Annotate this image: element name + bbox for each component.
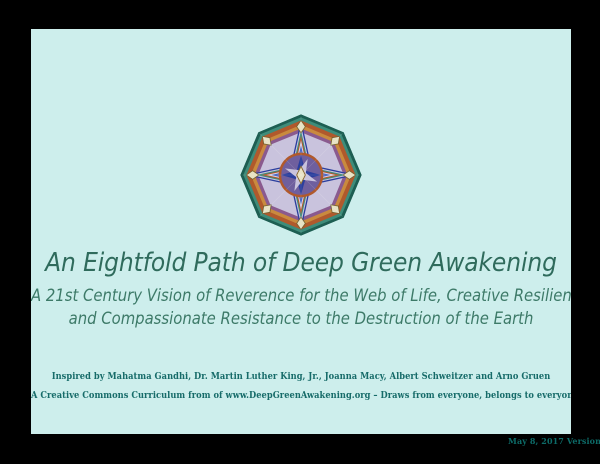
screenshot-viewport: An Eightfold Path of Deep Green Awakenin…: [0, 0, 600, 464]
emblem-container: [31, 112, 571, 238]
subtitle-line-1: A 21st Century Vision of Reverence for t…: [31, 286, 571, 305]
version-stamp: May 8, 2017 Version: [508, 436, 600, 446]
eight-pointed-mandala-icon: [239, 113, 363, 237]
title-block: An Eightfold Path of Deep Green Awakenin…: [31, 247, 571, 330]
page-subtitle: A 21st Century Vision of Reverence for t…: [31, 284, 571, 330]
document-page: An Eightfold Path of Deep Green Awakenin…: [31, 29, 571, 434]
subtitle-line-2: and Compassionate Resistance to the Dest…: [31, 307, 571, 330]
credits-block: Inspired by Mahatma Gandhi, Dr. Martin L…: [31, 367, 571, 405]
credits-inspired-by: Inspired by Mahatma Gandhi, Dr. Martin L…: [31, 367, 571, 386]
credits-license: A Creative Commons Curriculum from of ww…: [31, 386, 571, 405]
page-title: An Eightfold Path of Deep Green Awakenin…: [31, 247, 571, 279]
